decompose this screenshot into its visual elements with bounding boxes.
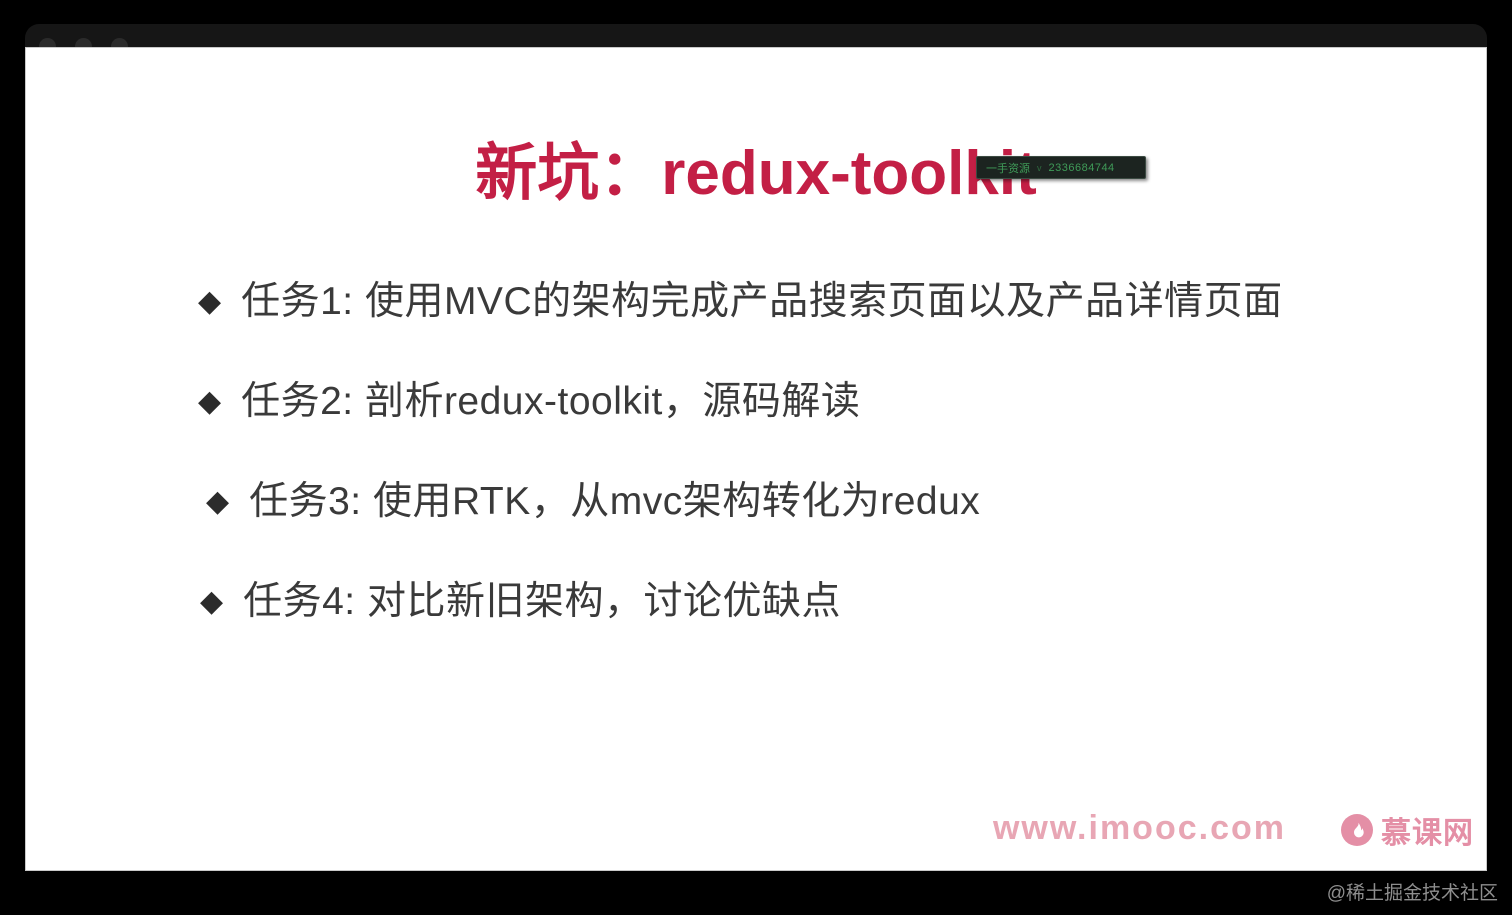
overlay-badge-number: 2336684744 (1049, 162, 1115, 174)
imooc-logo: 慕课网 (1341, 808, 1474, 852)
list-item-label: 任务1: 使用MVC的架构完成产品搜索页面以及产品详情页面 (241, 276, 1283, 328)
list-item: ◆ 任务4: 对比新旧架构，讨论优缺点 (200, 576, 1468, 628)
list-item: ◆ 任务3: 使用RTK，从mvc架构转化为redux (206, 476, 1468, 528)
footer-website-url: www.imooc.com (993, 809, 1286, 848)
list-item-label: 任务2: 剖析redux-toolkit，源码解读 (241, 376, 860, 428)
screenshot-stage: 新坑：redux-toolkit 一手资源 v 2336684744 ◆ 任务1… (0, 0, 1512, 915)
slide-bullet-list: ◆ 任务1: 使用MVC的架构完成产品搜索页面以及产品详情页面 ◆ 任务2: 剖… (198, 276, 1468, 628)
list-item: ◆ 任务1: 使用MVC的架构完成产品搜索页面以及产品详情页面 (198, 276, 1468, 328)
slide-title-wrap: 新坑：redux-toolkit (26, 143, 1486, 205)
list-item: ◆ 任务2: 剖析redux-toolkit，源码解读 (198, 376, 1468, 428)
flame-icon (1341, 814, 1373, 846)
overlay-badge-name: 一手资源 (986, 160, 1030, 176)
diamond-bullet-icon: ◆ (206, 476, 229, 528)
presentation-slide: 新坑：redux-toolkit 一手资源 v 2336684744 ◆ 任务1… (25, 47, 1487, 871)
diamond-bullet-icon: ◆ (200, 576, 223, 628)
slide-title: 新坑：redux-toolkit (475, 143, 1036, 205)
list-item-label: 任务3: 使用RTK，从mvc架构转化为redux (249, 476, 980, 528)
screen-recorder-overlay-badge: 一手资源 v 2336684744 (976, 156, 1146, 179)
diamond-bullet-icon: ◆ (198, 276, 221, 328)
source-watermark: @稀土掘金技术社区 (1327, 878, 1498, 905)
diamond-bullet-icon: ◆ (198, 376, 221, 428)
overlay-badge-verified-icon: v (1037, 163, 1042, 173)
imooc-logo-text: 慕课网 (1381, 808, 1474, 852)
list-item-label: 任务4: 对比新旧架构，讨论优缺点 (243, 576, 841, 628)
